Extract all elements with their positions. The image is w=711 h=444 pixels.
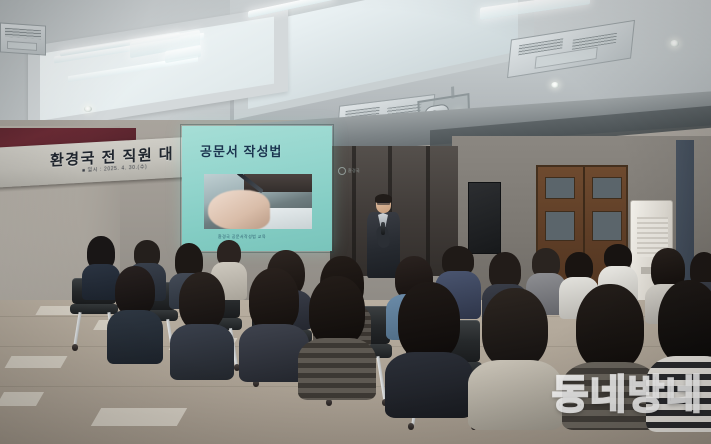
photo-scene: 환경국 전 직원 대 ■ 일시 : 2025. 4. 30.(수) 공문서 작성… <box>0 0 711 444</box>
organization-logo: 환경국 <box>338 166 364 176</box>
screen-frame <box>180 124 334 253</box>
downlight <box>84 106 92 112</box>
door-glass-panel <box>592 211 622 241</box>
attendee <box>246 268 302 378</box>
pa-speaker <box>468 182 501 254</box>
coffer-light-well <box>248 0 518 109</box>
attendee <box>112 266 158 362</box>
floor-accent-tile <box>91 408 187 426</box>
ac-vent-left <box>0 22 46 55</box>
attendee <box>478 288 552 428</box>
logo-ring-icon <box>338 167 346 175</box>
microphone-icon <box>381 222 385 235</box>
floor-accent-tile <box>5 356 68 368</box>
attendee <box>176 272 228 376</box>
floor-accent-tile <box>0 392 44 406</box>
door-glass-panel <box>592 177 622 199</box>
downlight <box>551 82 559 88</box>
door-glass-panel <box>545 177 575 199</box>
attendee <box>394 282 464 414</box>
door-glass-panel <box>545 211 575 241</box>
attendee <box>306 276 368 396</box>
presenter-glasses-icon <box>377 202 390 205</box>
ac-grille <box>5 28 41 40</box>
ac-center-panel <box>7 41 37 51</box>
logo-label: 환경국 <box>348 168 360 174</box>
watermark: 동네방네 <box>552 362 703 420</box>
downlight <box>670 40 679 47</box>
